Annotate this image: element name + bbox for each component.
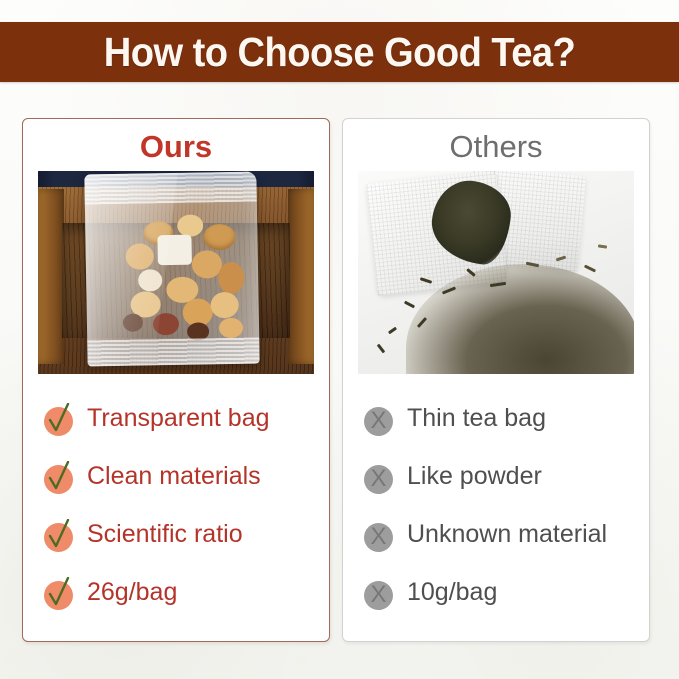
feature-label: 26g/bag: [87, 579, 177, 607]
feature-row: 26g/bag: [43, 564, 315, 622]
feature-row: Clean materials: [43, 448, 315, 506]
cross-glyph: X: [364, 523, 393, 552]
cross-glyph: X: [364, 465, 393, 494]
comparison-section: Ours: [0, 118, 679, 643]
check-circle-icon: [43, 461, 75, 493]
cross-circle-icon: X: [363, 403, 395, 435]
feature-row: X 10g/bag: [363, 564, 635, 622]
check-circle-icon: [43, 577, 75, 609]
feature-label: Transparent bag: [87, 405, 270, 433]
cross-circle-icon: X: [363, 577, 395, 609]
check-circle-icon: [43, 519, 75, 551]
cross-circle-icon: X: [363, 519, 395, 551]
header-banner: How to Choose Good Tea?: [0, 22, 679, 82]
panel-heading-others: Others: [357, 129, 635, 165]
feature-label: 10g/bag: [407, 579, 497, 607]
product-photo-others: [358, 171, 634, 374]
feature-label: Like powder: [407, 463, 542, 491]
feature-list-ours: Transparent bag Clean materials: [37, 390, 315, 622]
cross-circle-icon: X: [363, 461, 395, 493]
panel-heading-ours: Ours: [37, 129, 315, 165]
feature-label: Unknown material: [407, 521, 607, 549]
cross-glyph: X: [364, 407, 393, 436]
feature-row: X Thin tea bag: [363, 390, 635, 448]
cross-glyph: X: [364, 581, 393, 610]
product-photo-ours: [38, 171, 314, 374]
panel-others: Others: [342, 118, 650, 642]
feature-row: Scientific ratio: [43, 506, 315, 564]
check-circle-icon: [43, 403, 75, 435]
feature-label: Scientific ratio: [87, 521, 243, 549]
feature-list-others: X Thin tea bag X Like powder X Unknown m…: [357, 390, 635, 622]
feature-label: Thin tea bag: [407, 405, 546, 433]
page-title: How to Choose Good Tea?: [104, 32, 576, 73]
feature-label: Clean materials: [87, 463, 261, 491]
panel-ours: Ours: [22, 118, 330, 642]
transparent-tea-bag: [84, 171, 259, 366]
feature-row: Transparent bag: [43, 390, 315, 448]
feature-row: X Unknown material: [363, 506, 635, 564]
feature-row: X Like powder: [363, 448, 635, 506]
